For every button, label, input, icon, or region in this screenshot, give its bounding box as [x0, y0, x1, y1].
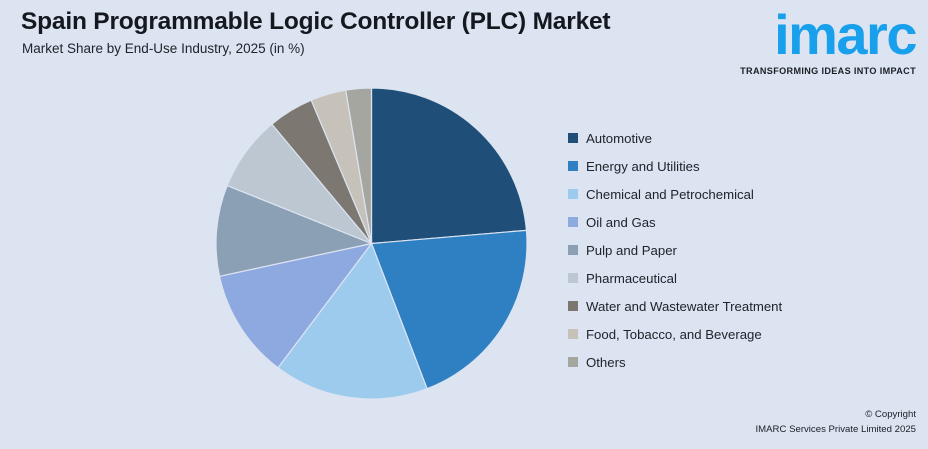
imarc-logo: imarc TRANSFORMING IDEAS INTO IMPACT	[720, 4, 920, 88]
company-line: IMARC Services Private Limited 2025	[756, 422, 917, 437]
chart-subtitle: Market Share by End-Use Industry, 2025 (…	[22, 41, 305, 56]
legend-item[interactable]: Chemical and Petrochemical	[568, 180, 908, 208]
legend-item[interactable]: Energy and Utilities	[568, 152, 908, 180]
legend-item[interactable]: Pharmaceutical	[568, 264, 908, 292]
copyright-line: © Copyright	[756, 407, 917, 422]
pie-chart: Automotive: 25%Energy and Utilities: 21.…	[0, 80, 560, 420]
legend-swatch-icon	[568, 329, 578, 339]
legend-swatch-icon	[568, 161, 578, 171]
legend-item-label: Oil and Gas	[586, 216, 656, 229]
legend-item[interactable]: Pulp and Paper	[568, 236, 908, 264]
legend-swatch-icon	[568, 133, 578, 143]
legend-item-label: Others	[586, 356, 626, 369]
legend-swatch-icon	[568, 245, 578, 255]
chart-legend: AutomotiveEnergy and UtilitiesChemical a…	[568, 124, 908, 376]
footer: © Copyright IMARC Services Private Limit…	[756, 407, 917, 437]
legend-item[interactable]: Others	[568, 348, 908, 376]
legend-item-label: Food, Tobacco, and Beverage	[586, 328, 762, 341]
legend-item-label: Pharmaceutical	[586, 272, 677, 285]
legend-item-label: Automotive	[586, 132, 652, 145]
legend-swatch-icon	[568, 357, 578, 367]
legend-item-label: Pulp and Paper	[586, 244, 677, 257]
legend-swatch-icon	[568, 273, 578, 283]
chart-page: Spain Programmable Logic Controller (PLC…	[0, 0, 928, 449]
legend-item[interactable]: Water and Wastewater Treatment	[568, 292, 908, 320]
legend-item[interactable]: Food, Tobacco, and Beverage	[568, 320, 908, 348]
pie-slice[interactable]: Automotive: 25%	[372, 88, 527, 244]
legend-swatch-icon	[568, 217, 578, 227]
pie-slice-group: Automotive: 25%Energy and Utilities: 21.…	[216, 88, 527, 399]
legend-item[interactable]: Automotive	[568, 124, 908, 152]
legend-item-label: Water and Wastewater Treatment	[586, 300, 782, 313]
legend-swatch-icon	[568, 301, 578, 311]
legend-item-label: Energy and Utilities	[586, 160, 700, 173]
legend-swatch-icon	[568, 189, 578, 199]
legend-item[interactable]: Oil and Gas	[568, 208, 908, 236]
imarc-wordmark: imarc	[720, 4, 920, 66]
page-title: Spain Programmable Logic Controller (PLC…	[21, 8, 610, 36]
imarc-tagline: TRANSFORMING IDEAS INTO IMPACT	[720, 66, 920, 76]
legend-item-label: Chemical and Petrochemical	[586, 188, 754, 201]
pie-chart-area: Automotive: 25%Energy and Utilities: 21.…	[0, 80, 560, 420]
